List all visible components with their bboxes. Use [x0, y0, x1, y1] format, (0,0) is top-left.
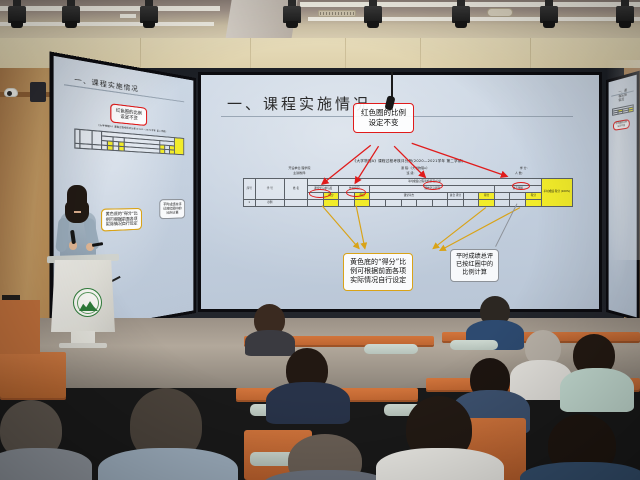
side-desk [0, 352, 66, 398]
seat-cushion [364, 344, 418, 354]
callout-yellow: 黄色底的“得分”比 例可根据前面各项 实际情况自行设定 [101, 208, 142, 232]
microphone-boom [391, 72, 393, 98]
callout-yellow: 黄色底的“得分”比 例可根据前面各项 实际情况自行设定 [343, 253, 413, 291]
lecture-hall-photo: 一、课程实施情况 《大学物理A》课程过程考核评分册(2020—2021学年 第二… [0, 0, 640, 480]
side-desk-panel [0, 300, 40, 354]
ceiling-speaker [487, 8, 513, 17]
window-light [606, 60, 640, 260]
audience-torso [245, 330, 295, 356]
seat-cushion [450, 340, 498, 350]
audience-torso [266, 382, 350, 424]
audience-torso [520, 462, 640, 480]
callout-red: 红色圈的比例 设定不变 [353, 103, 414, 133]
ceiling-vent [318, 10, 356, 17]
projection-screen-main: 一、课程实施情况 《大学物理A》课程过程考核评分册(2020—2021学年 第二… [198, 72, 602, 312]
security-camera-icon [4, 88, 18, 97]
audience-torso [376, 448, 504, 480]
university-emblem-icon [73, 288, 102, 317]
callout-gray: 平时成绩总评 已按红圈中的 比例计算 [450, 249, 499, 282]
podium [47, 255, 119, 347]
slide-main: 一、课程实施情况 《大学物理A》课程过程考核评分册(2020—2021学年 第二… [201, 75, 599, 309]
wall-mounted-device [30, 82, 46, 102]
callout-red: 红色圈的比例 设定不变 [110, 103, 147, 125]
audience-torso [560, 368, 634, 412]
callout-gray: 平时成绩总评 已按红圈中的 比例计算 [159, 199, 185, 219]
audience-torso [0, 448, 92, 480]
audience-torso [98, 448, 238, 480]
